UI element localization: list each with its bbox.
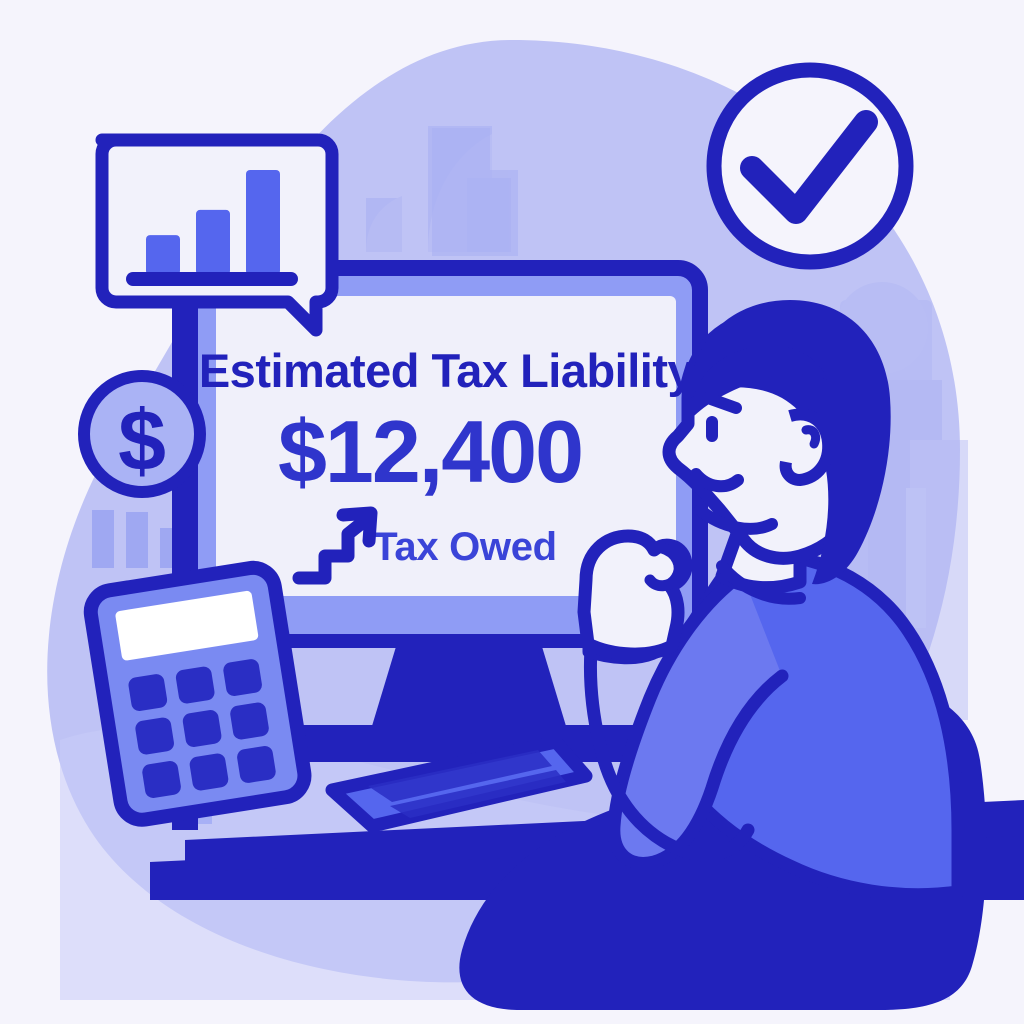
bar-chart-bubble: [102, 140, 332, 330]
check-circle-icon: [714, 70, 906, 262]
screen-amount: $12,400: [278, 402, 582, 501]
screen-title: Estimated Tax Liability: [199, 344, 694, 397]
screen-subtitle: Tax Owed: [373, 525, 557, 569]
calculator-icon: [88, 565, 308, 823]
calculator-keys: [127, 658, 276, 799]
coin-symbol: $: [118, 393, 166, 489]
illustration-svg: Estimated Tax Liability $12,400 Tax Owed…: [0, 0, 1024, 1024]
person-ear: [786, 414, 829, 480]
monitor-stand-neck: [372, 640, 566, 726]
dollar-coin-icon: $: [84, 376, 200, 492]
illustration-canvas: Estimated Tax Liability $12,400 Tax Owed…: [0, 0, 1024, 1024]
